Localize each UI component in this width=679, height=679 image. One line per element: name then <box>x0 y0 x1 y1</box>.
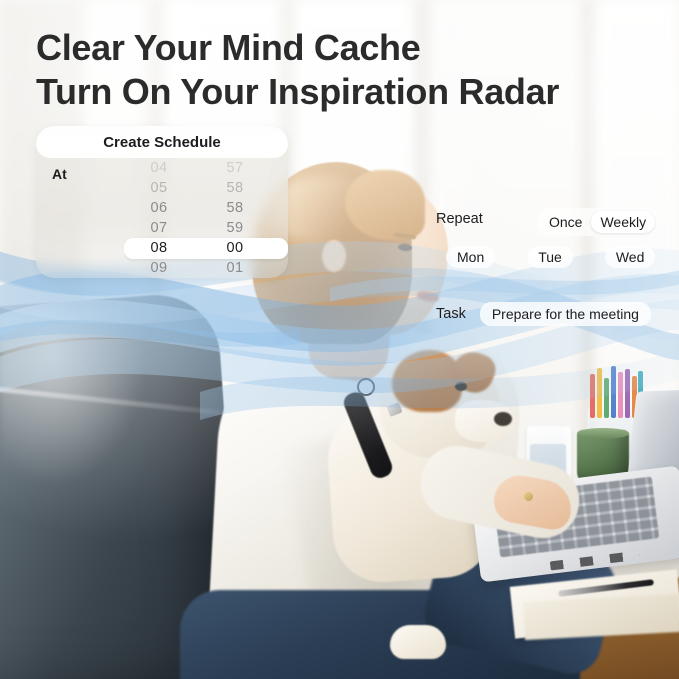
weekday-chip-group: Mon Tue Wed <box>446 246 655 268</box>
repeat-option-once[interactable]: Once <box>540 211 591 233</box>
dog-collar-ring <box>357 378 375 396</box>
task-row: Task Prepare for the meeting <box>436 302 651 326</box>
hour-option[interactable]: 07 <box>132 218 186 238</box>
task-label: Task <box>436 306 466 322</box>
repeat-segmented-control[interactable]: Once Weekly <box>537 208 658 236</box>
minute-option[interactable]: 58 <box>208 198 262 218</box>
minute-option-selected[interactable]: 00 <box>208 238 262 258</box>
minute-option[interactable]: 01 <box>208 258 262 278</box>
dog-nose <box>494 412 512 426</box>
repeat-option-weekly[interactable]: Weekly <box>591 211 655 233</box>
mug-rim <box>577 428 629 439</box>
hour-option-selected[interactable]: 08 <box>132 238 186 258</box>
repeat-row: Repeat <box>436 211 483 227</box>
task-input[interactable]: Prepare for the meeting <box>480 302 651 326</box>
time-picker[interactable]: 04 05 06 07 08 09 10 11 57 58 58 59 00 0… <box>124 158 288 278</box>
dog-fur-patch <box>392 350 462 412</box>
screenshot-root: Clear Your Mind Cache Turn On Your Inspi… <box>0 0 679 679</box>
dog-eye <box>455 382 467 391</box>
minute-option[interactable]: 57 <box>208 158 262 178</box>
minute-option[interactable]: 58 <box>208 178 262 198</box>
repeat-label: Repeat <box>436 211 483 227</box>
weekday-chip-wed[interactable]: Wed <box>605 246 656 268</box>
hour-option[interactable]: 05 <box>132 178 186 198</box>
weekday-chip-mon[interactable]: Mon <box>446 246 495 268</box>
finger-ring <box>524 492 533 501</box>
minute-column[interactable]: 57 58 58 59 00 01 02 03 <box>208 158 262 278</box>
hour-column[interactable]: 04 05 06 07 08 09 10 11 <box>132 158 186 278</box>
create-schedule-title: Create Schedule <box>36 126 288 158</box>
hour-option[interactable]: 06 <box>132 198 186 218</box>
hour-option[interactable]: 09 <box>132 258 186 278</box>
woman-ear <box>322 240 346 272</box>
hour-option[interactable]: 04 <box>132 158 186 178</box>
weekday-chip-tue[interactable]: Tue <box>527 246 573 268</box>
at-label: At <box>52 166 67 182</box>
page-title: Clear Your Mind Cache Turn On Your Inspi… <box>36 26 656 114</box>
create-schedule-panel: Create Schedule At 04 05 06 07 08 09 10 … <box>36 126 288 278</box>
dog-paw <box>390 625 446 659</box>
minute-option[interactable]: 59 <box>208 218 262 238</box>
notebook-pages <box>523 594 679 640</box>
